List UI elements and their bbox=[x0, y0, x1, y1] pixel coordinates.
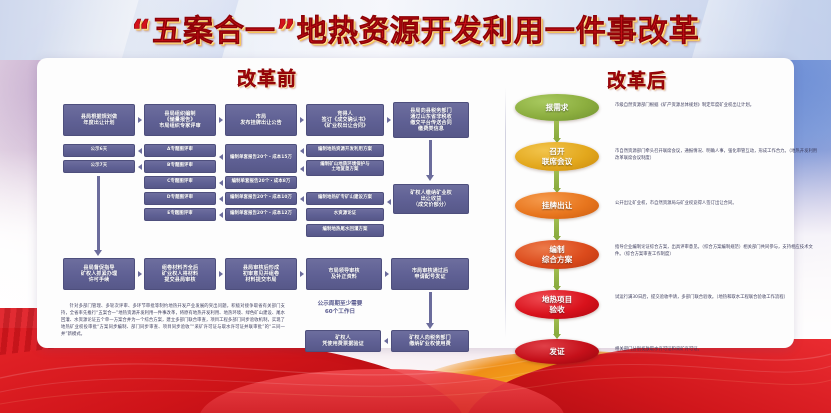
arrow-down-to-row2 bbox=[94, 250, 102, 256]
flow-box-colC-1: 编制单套报告20个・成本15万 bbox=[225, 144, 297, 173]
flow-box-colB-2: B专题图评审 bbox=[144, 160, 216, 173]
arrow-colD-1 bbox=[300, 148, 304, 154]
arrow-colD-2 bbox=[300, 166, 304, 172]
flow-box-colB-3: C专题图评审 bbox=[144, 176, 216, 189]
flow-box-colC-4: 编制单套报告20个・成本12万 bbox=[225, 208, 297, 221]
after-arrow-1 bbox=[552, 121, 561, 143]
flow-box-r1-2: 县局组织编制 《储量报告》 市局组织专家评审 bbox=[144, 104, 216, 136]
arrow-to-right-node bbox=[387, 199, 391, 205]
flow-box-r1-1: 县局根据规划做 年度出让计划 bbox=[63, 104, 135, 136]
poster-title: “五案合一”地热资源开发利用一件事改革 bbox=[131, 6, 699, 50]
after-step-desc-6: 相关部门分别发放取水许可证和采矿许可证。 bbox=[615, 346, 819, 353]
vline-to-row2 bbox=[97, 176, 100, 251]
public-notice-text: 公示周期至少需要 60个工作日 bbox=[299, 300, 381, 317]
flow-box-colD-1: 编制地热资源开发利用方案 bbox=[306, 144, 384, 157]
flow-box-colC-2: 编制单套报告20个・成本8万 bbox=[225, 176, 297, 189]
arrow-r3-1 bbox=[384, 338, 388, 344]
flow-box-right-node: 矿权人缴纳矿业权 出让收益 （成交价部分） bbox=[393, 184, 469, 214]
flow-box-r2-1: 县局督促指导 矿权人抓紧办理 许可手续 bbox=[63, 258, 135, 290]
flow-box-colD-2: 编制矿山地质环境保护与 土地复垦方案 bbox=[306, 160, 384, 176]
arrow-r1-1 bbox=[138, 117, 142, 123]
flow-box-r2-5: 市局审核通过后 申请配号发证 bbox=[391, 258, 469, 290]
after-arrow-stem-5 bbox=[554, 319, 559, 334]
after-step-desc-2: 市自然资源部门牵头召开联席会议，通报情况、明确人事，强化审管互动，形成工作合力。… bbox=[615, 148, 819, 162]
arrow-colC-2 bbox=[219, 180, 223, 186]
arrow-colC-3 bbox=[219, 196, 223, 202]
flow-box-colD-5: 编制地热尾水回灌方案 bbox=[306, 224, 384, 237]
arrow-down-to-row3 bbox=[426, 323, 434, 329]
vline-right-node bbox=[429, 140, 432, 176]
flow-box-colB-5: E专题图评审 bbox=[144, 208, 216, 221]
after-arrow-2 bbox=[552, 171, 561, 193]
after-step-desc-3: 公开出让矿业权，市自然资源局与矿业权竞得人签订出让合同。 bbox=[615, 200, 819, 207]
after-step-desc-1: 市级自然资源部门根据《矿产资源总体规划》制定年度矿业权出让计划。 bbox=[615, 102, 819, 109]
card-inner: 改革前 改革后 县局根据规划做 年度出让计划 县局组织编制 《储量报告》 市局组… bbox=[37, 58, 794, 348]
flow-box-colA-1: 公示6天 bbox=[63, 144, 135, 157]
after-arrow-4 bbox=[552, 269, 561, 291]
after-step-ellipse-5: 地热项目 验收 bbox=[515, 290, 599, 319]
after-step-ellipse-4: 编制 综合方案 bbox=[515, 240, 599, 269]
flow-box-r2-2: 组卷材料齐全后 矿业权人将材料 提交县局审核 bbox=[144, 258, 216, 290]
flow-box-r2-3: 县局审核后形成 初审意见并组卷 材料提交市局 bbox=[225, 258, 297, 290]
arrow-colD-3 bbox=[300, 196, 304, 202]
section-title-before: 改革前 bbox=[237, 64, 297, 91]
arrow-colB-1 bbox=[138, 148, 142, 154]
arrow-r2-1 bbox=[138, 271, 142, 277]
section-divider bbox=[505, 88, 506, 338]
flow-box-colA-2: 公示7天 bbox=[63, 160, 135, 173]
flow-box-colB-1: A专题图评审 bbox=[144, 144, 216, 157]
flow-box-r3-2: 矿权人向税务部门 缴纳矿业权使用费 bbox=[391, 330, 469, 352]
before-note-text: 针对多部门管理、多轮次评审、多环节审批等制约地热开发产业发展的突出问题，积极对接… bbox=[61, 304, 285, 339]
flow-box-r1-5: 县局向县税务部门 通过山东省非税收 缴交平台传送合同 缴费类信息 bbox=[393, 102, 469, 138]
arrow-colC-1 bbox=[219, 154, 223, 160]
flow-box-r2-4: 市局领导审核 及补正资料 bbox=[306, 258, 382, 290]
after-arrow-stem-2 bbox=[554, 171, 559, 188]
after-step-ellipse-1: 报需求 bbox=[515, 94, 599, 121]
after-step-ellipse-3: 挂牌出让 bbox=[515, 192, 599, 219]
after-step-desc-4: 指导企业编制论证综合方案，出具评审意见。（综合方案编制规范）相关部门共同参与，支… bbox=[615, 244, 819, 258]
content-card: 改革前 改革后 县局根据规划做 年度出让计划 县局组织编制 《储量报告》 市局组… bbox=[37, 58, 794, 348]
flow-box-r3-1: 矿权人 凭使用费票据验证 bbox=[305, 330, 381, 352]
after-arrow-stem-3 bbox=[554, 219, 559, 236]
arrow-down-right-node bbox=[426, 175, 434, 181]
arrow-r2-3 bbox=[300, 271, 304, 277]
after-step-ellipse-2: 召开 联席会议 bbox=[515, 142, 599, 171]
poster-canvas: “五案合一”地热资源开发利用一件事改革 改革前 改革后 县局根据规划做 年度出让… bbox=[0, 0, 831, 413]
arrow-colC-4 bbox=[219, 212, 223, 218]
arrow-r1-4 bbox=[387, 117, 391, 123]
after-step-desc-5: 试运行满30日后，提交验收申请，多部门联合验收。（地热和取水工程联合验收工作流程… bbox=[615, 294, 819, 301]
after-step-ellipse-6: 发证 bbox=[515, 339, 599, 364]
after-arrow-3 bbox=[552, 219, 561, 241]
flow-box-r1-4: 竞得人 签订《成交确认书》 《矿业权出让合同》 bbox=[306, 104, 384, 136]
after-arrow-5 bbox=[552, 319, 561, 339]
vline-to-row3 bbox=[429, 292, 432, 324]
arrow-r2-2 bbox=[219, 271, 223, 277]
flow-box-colB-4: D专题图评审 bbox=[144, 192, 216, 205]
before-note-paragraph: 针对多部门管理、多轮次评审、多环节审批等制约地热开发产业发展的突出问题，积极对接… bbox=[61, 304, 285, 339]
arrow-r1-2 bbox=[219, 117, 223, 123]
after-arrow-stem-1 bbox=[554, 121, 559, 138]
flow-box-colD-4: 水资源论证 bbox=[306, 208, 384, 221]
flow-box-colC-3: 编制单套报告20个・成本10万 bbox=[225, 192, 297, 205]
arrow-r1-3 bbox=[300, 117, 304, 123]
flow-box-r1-3: 市局 发布挂牌出让公告 bbox=[225, 104, 297, 136]
section-title-after: 改革后 bbox=[607, 66, 667, 93]
after-arrow-stem-4 bbox=[554, 269, 559, 286]
flow-box-colD-3: 编制地热矿专矿山建设方案 bbox=[306, 192, 384, 205]
poster-title-wrap: “五案合一”地热资源开发利用一件事改革 bbox=[0, 6, 831, 50]
arrow-r2-4 bbox=[385, 271, 389, 277]
arrow-colB-2 bbox=[138, 164, 142, 170]
